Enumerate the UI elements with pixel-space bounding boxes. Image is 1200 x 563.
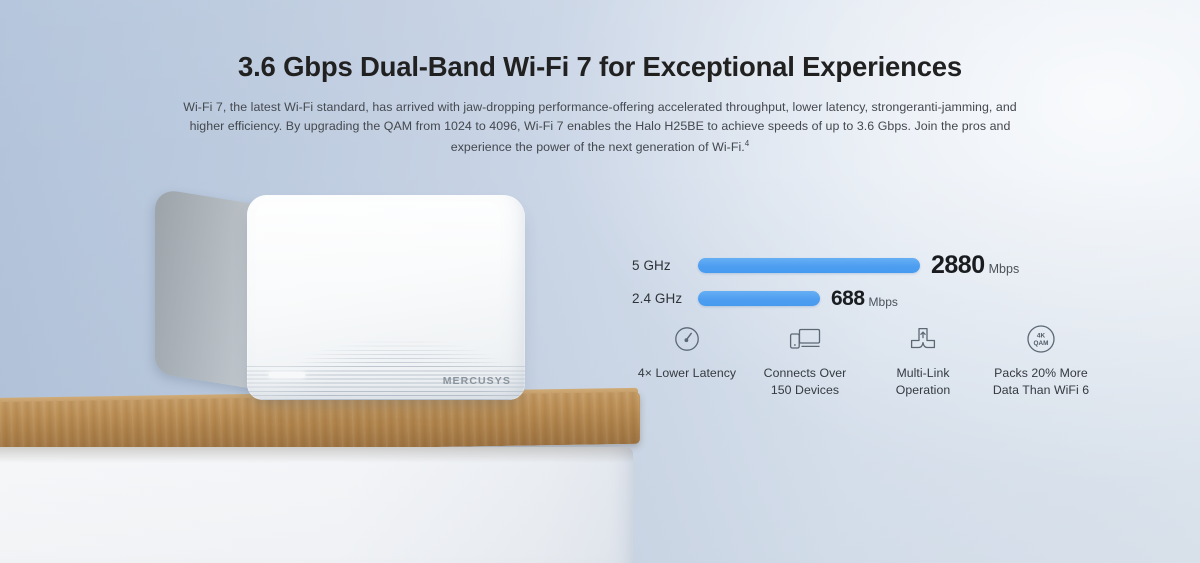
speed-value-24ghz: 688 bbox=[831, 288, 865, 309]
feature-label-latency-line1: 4× Lower Latency bbox=[628, 365, 746, 382]
feature-item-multilink: Multi-Link Operation bbox=[864, 318, 982, 399]
svg-text:QAM: QAM bbox=[1034, 340, 1049, 347]
speed-value-5ghz: 2880 bbox=[931, 253, 985, 278]
feature-label-qam: Packs 20% More Data Than WiFi 6 bbox=[982, 365, 1100, 399]
speed-fill-5ghz bbox=[698, 258, 920, 273]
speed-label-24ghz: 2.4 GHz bbox=[632, 291, 698, 306]
feature-item-qam: 4K QAM Packs 20% More Data Than WiFi 6 bbox=[982, 318, 1100, 399]
speed-track-5ghz bbox=[698, 258, 920, 273]
feature-label-latency: 4× Lower Latency bbox=[628, 365, 746, 382]
qam-badge-icon: 4K QAM bbox=[982, 318, 1100, 360]
router-device: MERCUSYS bbox=[155, 195, 525, 410]
feature-list: 4× Lower Latency Connects Over 150 Devic… bbox=[628, 318, 1100, 399]
speedometer-icon bbox=[628, 318, 746, 360]
speed-bars: 5 GHz 2880 Mbps 2.4 GHz 688 Mbps bbox=[632, 252, 1052, 318]
page-title: 3.6 Gbps Dual-Band Wi-Fi 7 for Exception… bbox=[0, 50, 1200, 83]
router-wave-base bbox=[247, 366, 525, 400]
headline-block: 3.6 Gbps Dual-Band Wi-Fi 7 for Exception… bbox=[0, 50, 1200, 83]
speed-row-5ghz: 5 GHz 2880 Mbps bbox=[632, 252, 1052, 278]
feature-label-devices-line2: 150 Devices bbox=[746, 382, 864, 399]
feature-label-multilink-line1: Multi-Link bbox=[864, 365, 982, 382]
brand-logo: MERCUSYS bbox=[443, 375, 511, 387]
speed-track-24ghz bbox=[698, 291, 820, 306]
router-front-panel: MERCUSYS bbox=[247, 195, 525, 400]
speed-fill-24ghz bbox=[698, 291, 820, 306]
multi-link-icon bbox=[864, 318, 982, 360]
speed-row-24ghz: 2.4 GHz 688 Mbps bbox=[632, 285, 1052, 311]
hero-description-text: Wi-Fi 7, the latest Wi-Fi standard, has … bbox=[183, 100, 1017, 154]
hero-description: Wi-Fi 7, the latest Wi-Fi standard, has … bbox=[170, 98, 1030, 157]
feature-label-qam-line2: Data Than WiFi 6 bbox=[982, 382, 1100, 399]
status-led-icon bbox=[269, 372, 305, 378]
router-wave-pattern bbox=[247, 314, 525, 400]
feature-label-qam-line1: Packs 20% More bbox=[982, 365, 1100, 382]
cabinet-shadow bbox=[0, 447, 633, 463]
feature-label-multilink-line2: Operation bbox=[864, 382, 982, 399]
feature-label-multilink: Multi-Link Operation bbox=[864, 365, 982, 399]
feature-label-devices: Connects Over 150 Devices bbox=[746, 365, 864, 399]
white-cabinet bbox=[0, 447, 633, 563]
feature-item-devices: Connects Over 150 Devices bbox=[746, 318, 864, 399]
hero-banner: 3.6 Gbps Dual-Band Wi-Fi 7 for Exception… bbox=[0, 0, 1200, 563]
product-image: MERCUSYS bbox=[0, 180, 660, 563]
speed-unit-24ghz: Mbps bbox=[869, 295, 898, 309]
speed-label-5ghz: 5 GHz bbox=[632, 258, 698, 273]
svg-text:4K: 4K bbox=[1037, 332, 1046, 339]
feature-label-devices-line1: Connects Over bbox=[746, 365, 864, 382]
footnote-marker: 4 bbox=[745, 139, 750, 148]
devices-icon bbox=[746, 318, 864, 360]
feature-item-latency: 4× Lower Latency bbox=[628, 318, 746, 399]
speed-unit-5ghz: Mbps bbox=[989, 262, 1020, 276]
